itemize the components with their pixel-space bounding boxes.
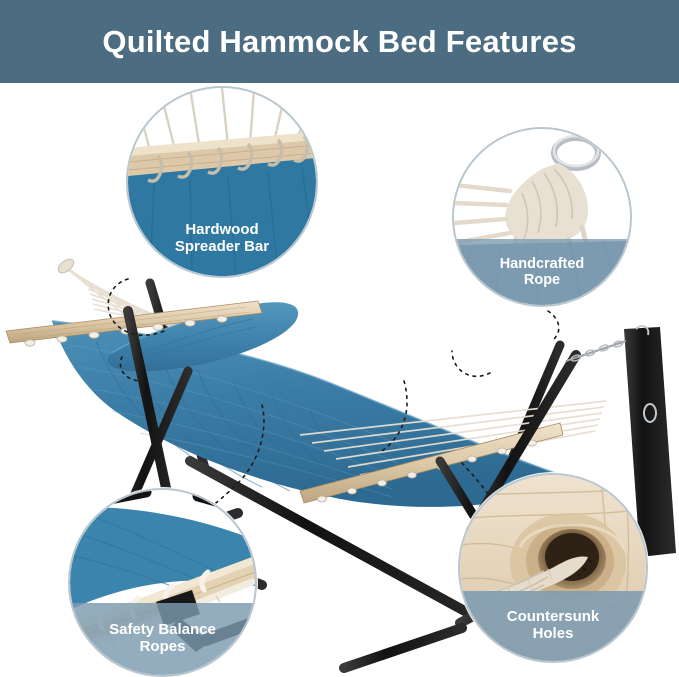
callout-safety-balance-ropes: Safety Balance Ropes <box>68 488 257 677</box>
callout-label-line2: Spreader Bar <box>175 239 269 256</box>
callout-countersunk-holes: Countersunk Holes <box>458 473 648 663</box>
callout-label-countersunk-holes: Countersunk Holes <box>460 591 646 661</box>
callout-label-line1: Countersunk <box>507 609 600 626</box>
callout-label-line1: Handcrafted <box>500 256 585 272</box>
callout-label-line1: Safety Balance <box>109 622 216 639</box>
callout-hardwood-spreader-bar: Hardwood Spreader Bar <box>126 86 318 278</box>
callout-label-line2: Rope <box>524 272 560 288</box>
page-title: Quilted Hammock Bed Features <box>102 24 576 60</box>
callout-label-spreader-bar: Hardwood Spreader Bar <box>128 202 316 276</box>
callout-label-line1: Hardwood <box>185 222 258 239</box>
feature-graphic: Quilted Hammock Bed Features <box>0 0 679 677</box>
callout-label-line2: Ropes <box>140 639 186 656</box>
header-banner: Quilted Hammock Bed Features <box>0 0 679 83</box>
callout-label-safety-ropes: Safety Balance Ropes <box>70 603 255 675</box>
callout-handcrafted-rope: Handcrafted Rope <box>452 127 632 307</box>
callout-label-handcrafted-rope: Handcrafted Rope <box>454 239 630 305</box>
callout-label-line2: Holes <box>533 626 574 643</box>
